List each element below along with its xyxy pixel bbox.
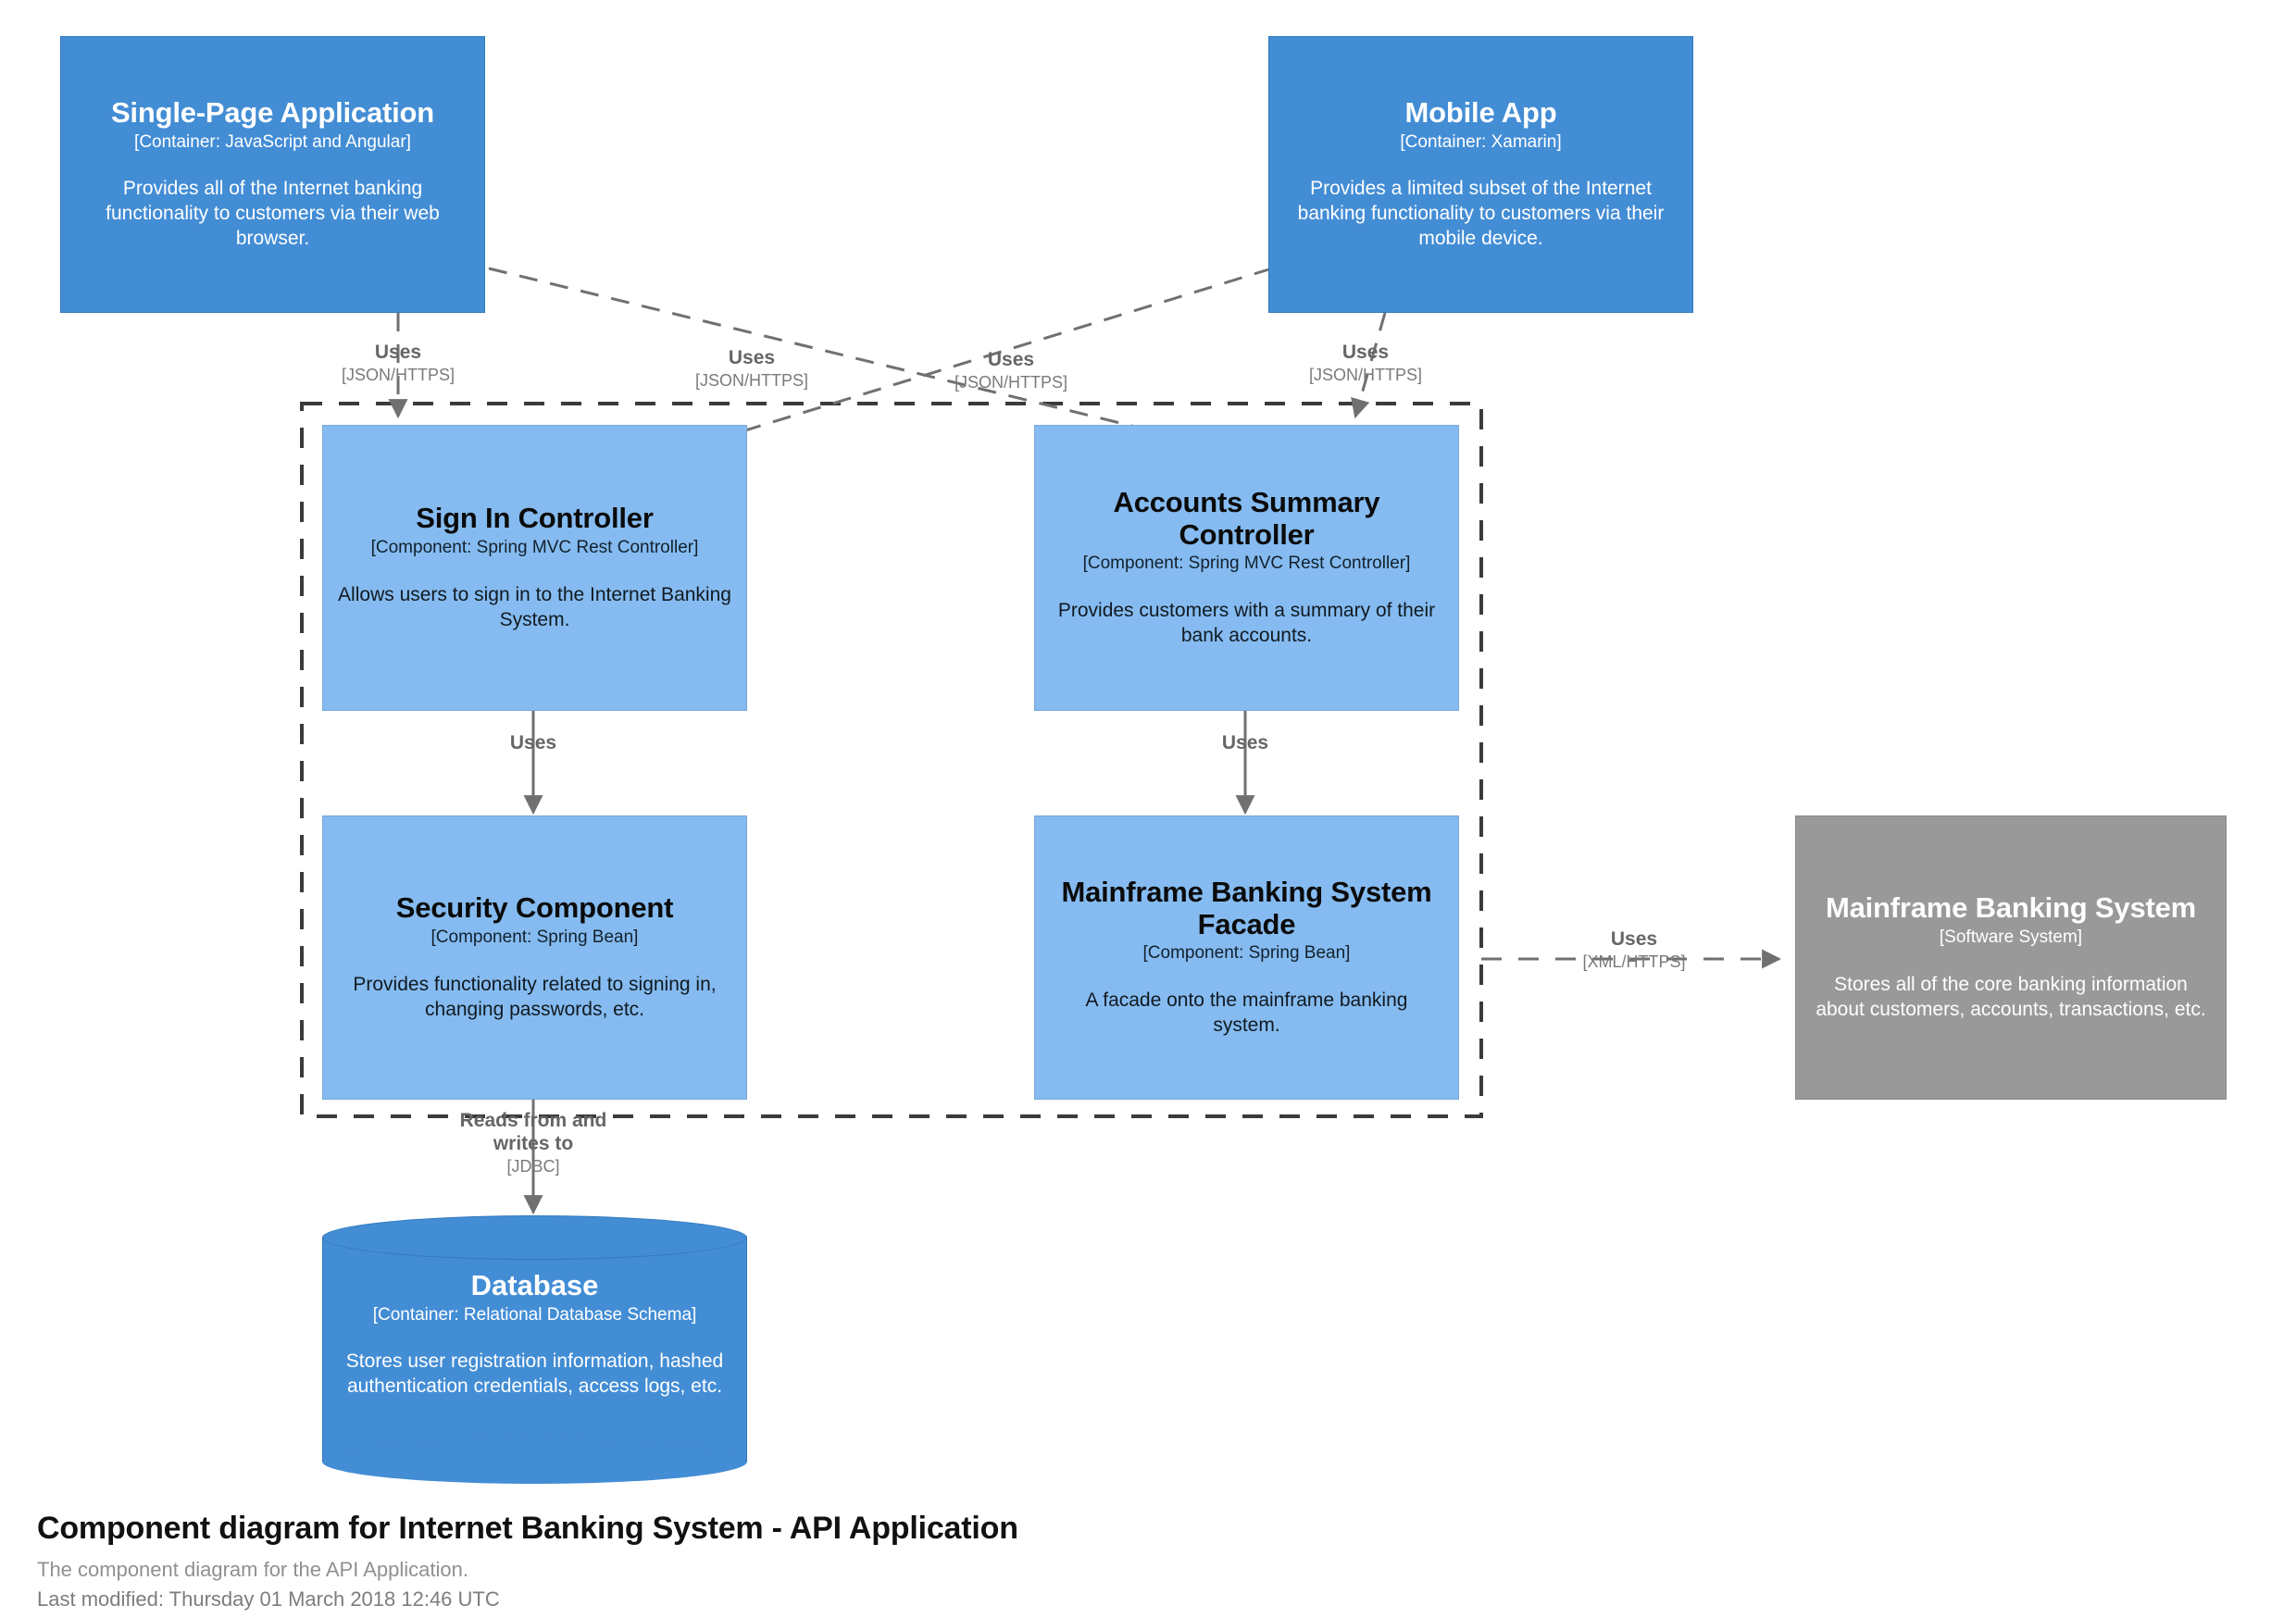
edge-label-security-database: Reads from and writes to [JDBC] xyxy=(413,1109,654,1177)
node-description: A facade onto the mainframe banking syst… xyxy=(1050,989,1443,1039)
edge-label-accounts-facade: Uses xyxy=(1153,731,1338,756)
node-title: Accounts Summary Controller xyxy=(1050,487,1443,551)
node-title: Mobile App xyxy=(1405,97,1557,130)
diagram-caption: Component diagram for Internet Banking S… xyxy=(37,1511,1889,1612)
edge-label-mobile-accounts: Uses [JSON/HTTPS] xyxy=(1273,341,1458,386)
node-description: Allows users to sign in to the Internet … xyxy=(338,583,731,633)
edge-label-technology: [JSON/HTTPS] xyxy=(1273,366,1458,386)
node-mobile-app[interactable]: Mobile App [Container: Xamarin] Provides… xyxy=(1268,36,1693,313)
edge-label-name: Reads from and writes to xyxy=(413,1109,654,1155)
node-sign-in-controller[interactable]: Sign In Controller [Component: Spring MV… xyxy=(322,425,747,711)
node-description: Provides customers with a summary of the… xyxy=(1050,599,1443,649)
node-technology: [Software System] xyxy=(1940,927,2082,949)
node-single-page-application[interactable]: Single-Page Application [Container: Java… xyxy=(60,36,485,313)
node-title: Mainframe Banking System Facade xyxy=(1050,877,1443,940)
caption-title: Component diagram for Internet Banking S… xyxy=(37,1511,1889,1547)
node-title: Security Component xyxy=(396,892,674,925)
edge-label-mobile-signin: Uses [JSON/HTTPS] xyxy=(918,348,1104,393)
node-mainframe-banking-system-facade[interactable]: Mainframe Banking System Facade [Compone… xyxy=(1034,815,1459,1100)
node-description: Stores all of the core banking informati… xyxy=(1811,973,2211,1023)
edge-label-name: Uses xyxy=(659,346,844,369)
node-database[interactable]: Database [Container: Relational Database… xyxy=(322,1215,747,1484)
caption-last-modified: Last modified: Thursday 01 March 2018 12… xyxy=(37,1587,1889,1612)
edge-label-name: Uses xyxy=(1273,341,1458,364)
node-technology: [Component: Spring Bean] xyxy=(431,927,639,949)
edge-label-technology: [JDBC] xyxy=(413,1157,654,1177)
node-mainframe-banking-system[interactable]: Mainframe Banking System [Software Syste… xyxy=(1795,815,2227,1100)
edge-label-spa-signin: Uses [JSON/HTTPS] xyxy=(306,341,491,386)
node-technology: [Container: JavaScript and Angular] xyxy=(134,132,411,154)
node-security-component[interactable]: Security Component [Component: Spring Be… xyxy=(322,815,747,1100)
edge-label-name: Uses xyxy=(306,341,491,364)
node-technology: [Container: Xamarin] xyxy=(1400,132,1561,154)
node-title: Sign In Controller xyxy=(416,503,653,535)
edge-label-facade-mainframe: Uses [XML/HTTPS] xyxy=(1528,927,1741,973)
edge-label-technology: [XML/HTTPS] xyxy=(1528,952,1741,973)
node-description: Stores user registration information, ha… xyxy=(335,1350,734,1400)
edge-label-name: Uses xyxy=(441,731,626,754)
node-description: Provides a limited subset of the Interne… xyxy=(1284,177,1678,252)
node-technology: [Component: Spring Bean] xyxy=(1143,943,1351,965)
edge-label-spa-accounts: Uses [JSON/HTTPS] xyxy=(659,346,844,392)
edge-label-technology: [JSON/HTTPS] xyxy=(306,366,491,386)
node-description: Provides functionality related to signin… xyxy=(338,973,731,1023)
edge-label-technology: [JSON/HTTPS] xyxy=(659,371,844,392)
caption-subtitle: The component diagram for the API Applic… xyxy=(37,1558,1889,1582)
edge-label-signin-security: Uses xyxy=(441,731,626,756)
node-title: Database xyxy=(471,1269,599,1302)
edge-label-technology: [JSON/HTTPS] xyxy=(918,373,1104,393)
node-title: Mainframe Banking System xyxy=(1826,892,2196,925)
node-description: Provides all of the Internet banking fun… xyxy=(76,177,469,252)
node-technology: [Container: Relational Database Schema] xyxy=(373,1305,697,1326)
node-accounts-summary-controller[interactable]: Accounts Summary Controller [Component: … xyxy=(1034,425,1459,711)
edge-label-name: Uses xyxy=(1528,927,1741,951)
node-title: Single-Page Application xyxy=(111,97,434,130)
edge-label-name: Uses xyxy=(918,348,1104,371)
node-technology: [Component: Spring MVC Rest Controller] xyxy=(371,538,699,559)
edge-label-name: Uses xyxy=(1153,731,1338,754)
node-technology: [Component: Spring MVC Rest Controller] xyxy=(1083,554,1411,575)
diagram-canvas: Single-Page Application [Container: Java… xyxy=(0,0,2296,1618)
